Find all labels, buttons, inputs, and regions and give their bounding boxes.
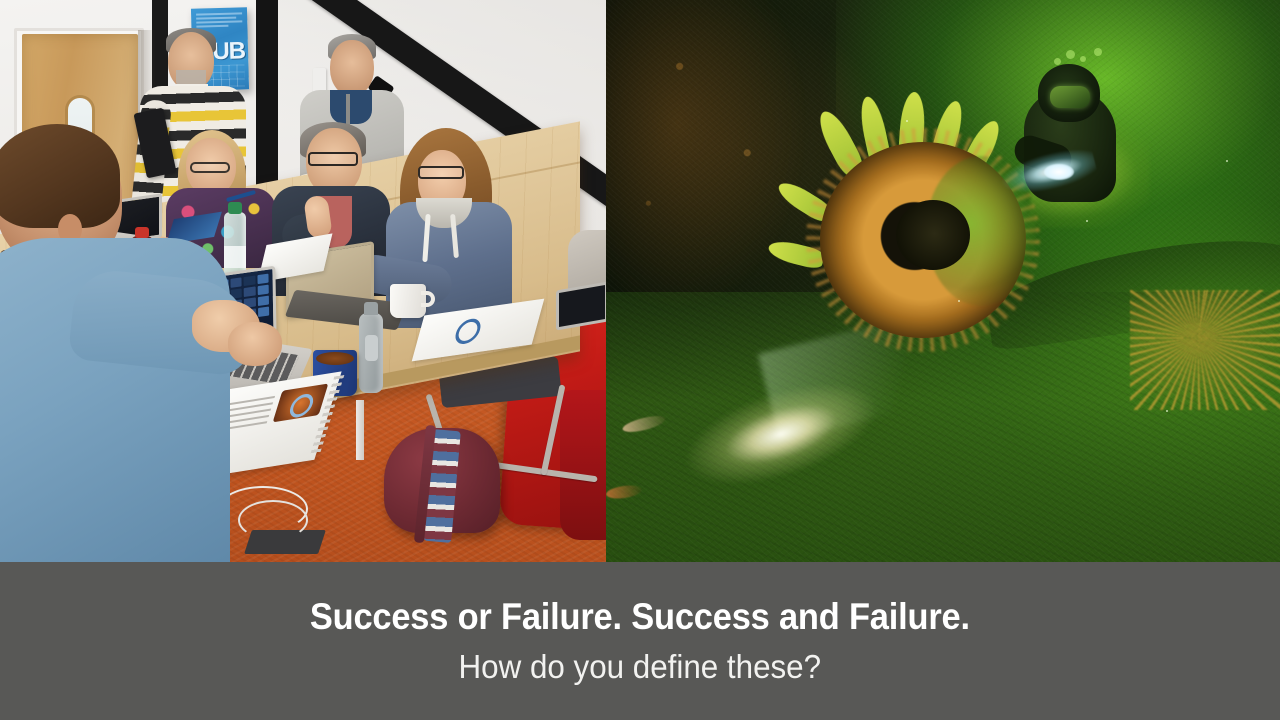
flask-cap	[364, 302, 378, 315]
flask-clip	[365, 335, 378, 361]
person-hoodie-glasses	[418, 166, 464, 179]
air-bubble-2	[1080, 56, 1086, 62]
person-foreground-hand-2	[228, 322, 282, 366]
air-bubble	[1066, 50, 1075, 59]
caption-title: Success or Failure. Success and Failure.	[310, 597, 970, 638]
person-glasses-eyewear	[308, 152, 358, 166]
image-strip: HUB	[0, 0, 1280, 562]
dive-torch-head	[1044, 164, 1074, 180]
orange-weed-right	[1130, 290, 1280, 410]
bottle-label	[224, 246, 246, 268]
person-standing-grey-head	[330, 40, 374, 96]
presentation-slide: HUB	[0, 0, 1280, 720]
notebook-cover-image	[273, 383, 329, 422]
meeting-room-photo: HUB	[0, 0, 606, 562]
bottle-cap	[228, 202, 242, 214]
person-standing-grey-tshirt	[330, 90, 372, 124]
scuba-diver	[1010, 48, 1130, 208]
cola-cap	[135, 227, 149, 238]
handout-logo	[453, 317, 484, 345]
white-mug	[390, 284, 426, 318]
underwater-diver-photo	[606, 0, 1280, 562]
person-blonde-glasses	[190, 162, 230, 173]
power-cable-2	[238, 500, 308, 540]
mug-contents	[316, 352, 354, 365]
air-bubble-3	[1054, 58, 1061, 65]
person-foreground-hair	[0, 124, 120, 228]
diver-mask	[1050, 86, 1090, 108]
caption-band: Success or Failure. Success and Failure.…	[0, 562, 1280, 720]
ring-dark-opening	[896, 200, 970, 270]
table-leg-2	[356, 400, 364, 460]
caption-subtitle: How do you define these?	[459, 649, 822, 685]
air-bubble-4	[1094, 48, 1102, 56]
insulated-flask	[359, 313, 383, 393]
